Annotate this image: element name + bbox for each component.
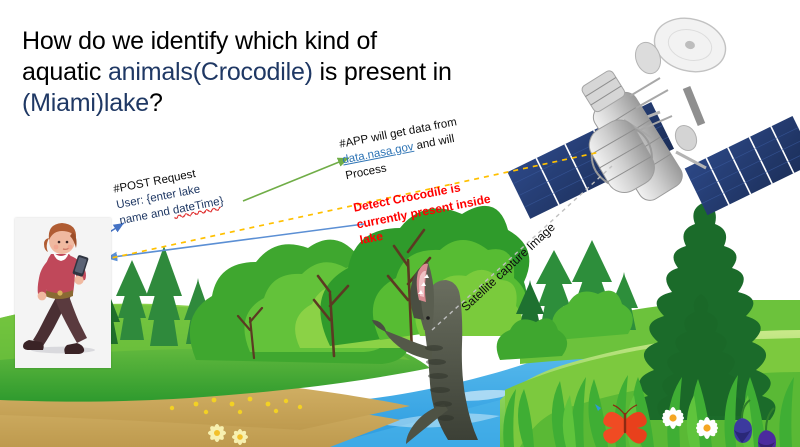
title-question-mark: ?: [149, 89, 163, 117]
satellite: [507, 11, 800, 219]
slide-canvas: How do we identify which kind of aquatic…: [0, 0, 800, 447]
user-photo-card: [15, 218, 111, 368]
page-title: How do we identify which kind of aquatic…: [22, 26, 492, 119]
title-line-1: How do we identify which kind of: [22, 27, 377, 55]
woman-walking-with-phone: [15, 218, 111, 368]
title-highlight-animals: animals(Crocodile): [108, 58, 313, 86]
title-line-2a: aquatic: [22, 58, 108, 86]
app-to-nasa-arrow: [243, 158, 349, 201]
left-forest-trees: [92, 206, 529, 364]
title-highlight-lake: (Miami)lake: [22, 89, 149, 117]
title-line-2c: is present in: [313, 58, 452, 86]
